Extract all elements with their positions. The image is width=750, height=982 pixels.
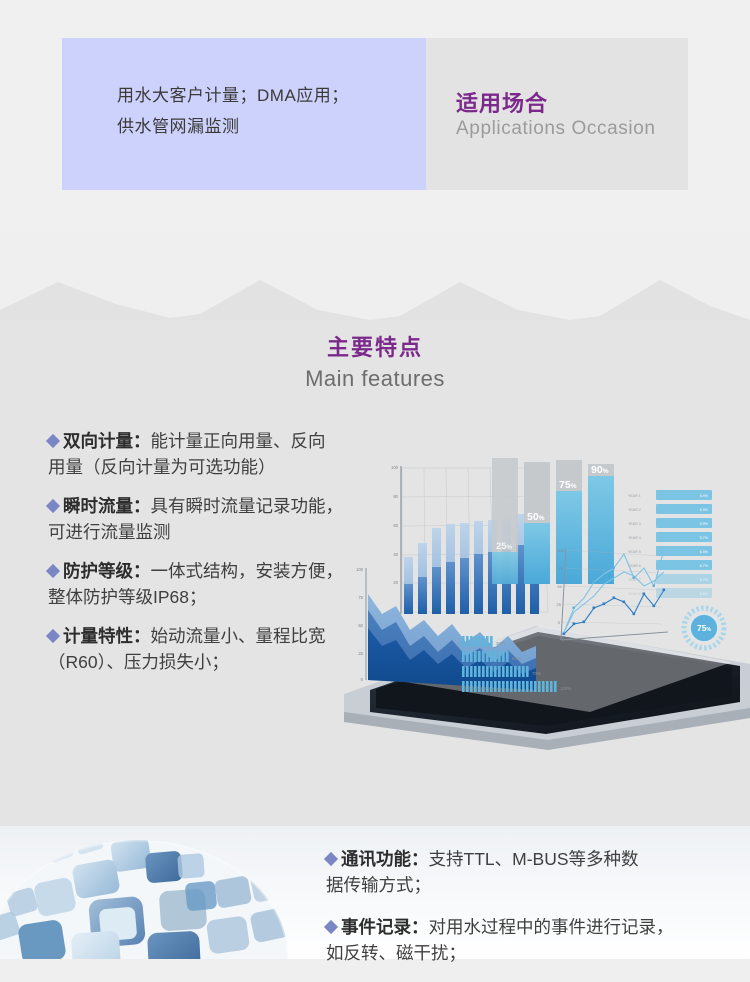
feature-desc-2: （R60）、压力损失小； bbox=[48, 652, 229, 672]
mosaic-sphere-graphic bbox=[0, 826, 300, 959]
svg-text:6.5%: 6.5% bbox=[700, 592, 709, 596]
svg-text:50: 50 bbox=[558, 584, 563, 589]
feature-desc-2: 如反转、磁干扰； bbox=[326, 943, 466, 963]
feature-desc-2: 据传输方式； bbox=[326, 875, 431, 895]
feature-term: 计量特性： bbox=[63, 626, 151, 646]
feature-item-protection-grade: 防护等级：一体式结构，安装方便， 整体防护等级IP68； bbox=[48, 558, 438, 610]
feature-term: 双向计量： bbox=[63, 431, 151, 451]
feature-item-instant-flow: 瞬时流量：具有瞬时流量记录功能， 可进行流量监测 bbox=[48, 493, 438, 545]
applications-body-line-1: 用水大客户计量；DMA应用； bbox=[117, 80, 417, 111]
diamond-bullet-icon bbox=[324, 852, 338, 866]
feature-desc-2: 用量（反向计量为可选功能） bbox=[48, 457, 276, 477]
feature-desc: 具有瞬时流量记录功能， bbox=[151, 496, 344, 516]
features-bottom-list: 通讯功能：支持TTL、M-BUS等多种数 据传输方式； 事件记录：对用水过程中的… bbox=[326, 846, 726, 982]
svg-text:YEAR 1: YEAR 1 bbox=[628, 494, 641, 498]
feature-desc-2: 整体防护等级IP68； bbox=[48, 587, 207, 607]
diamond-bullet-icon bbox=[46, 564, 60, 578]
applications-title-panel: 适用场合 Applications Occasion bbox=[426, 38, 688, 190]
feature-desc: 对用水过程中的事件进行记录， bbox=[429, 917, 674, 937]
svg-text:5.7%: 5.7% bbox=[700, 536, 709, 540]
feature-desc: 一体式结构，安装方便， bbox=[151, 561, 344, 581]
svg-text:5.9%: 5.9% bbox=[700, 494, 709, 498]
svg-text:5.7%: 5.7% bbox=[700, 578, 709, 582]
feature-desc: 能计量正向用量、反向 bbox=[151, 431, 326, 451]
feature-desc-2: 可进行流量监测 bbox=[48, 522, 171, 542]
svg-text:75: 75 bbox=[559, 566, 564, 571]
svg-text:6.9%: 6.9% bbox=[700, 508, 709, 512]
diamond-bullet-icon bbox=[46, 434, 60, 448]
applications-title-en: Applications Occasion bbox=[456, 118, 656, 140]
features-title-cn: 主要特点 bbox=[0, 332, 750, 364]
applications-body: 用水大客户计量；DMA应用； 供水管网漏监测 bbox=[117, 80, 417, 142]
svg-text:YEAR 5: YEAR 5 bbox=[628, 550, 641, 554]
applications-text-panel: 用水大客户计量；DMA应用； 供水管网漏监测 bbox=[62, 38, 426, 190]
svg-text:30%: 30% bbox=[496, 641, 505, 646]
feature-term: 瞬时流量： bbox=[63, 496, 151, 516]
svg-text:YEAR 2: YEAR 2 bbox=[628, 508, 641, 512]
donut-gauge-75: 75% bbox=[684, 608, 724, 648]
svg-text:5.9%: 5.9% bbox=[700, 522, 709, 526]
svg-text:25: 25 bbox=[557, 602, 562, 607]
feature-item-bidirectional: 双向计量：能计量正向用量、反向 用量（反向计量为可选功能） bbox=[48, 428, 438, 480]
percentage-column-chart: 25% 50% 75% 90% bbox=[492, 458, 614, 584]
svg-text:YEAR 4: YEAR 4 bbox=[628, 536, 641, 540]
year-ranking-chart: YEAR 1YEAR 2YEAR 3 YEAR 4YEAR 5YEAR 6 YE… bbox=[628, 490, 712, 598]
feature-term: 通讯功能： bbox=[341, 849, 429, 869]
diamond-bullet-icon bbox=[46, 499, 60, 513]
applications-body-line-2: 供水管网漏监测 bbox=[117, 111, 417, 142]
feature-item-event-log: 事件记录：对用水过程中的事件进行记录， 如反转、磁干扰； bbox=[326, 914, 726, 966]
seg-bar-70 bbox=[462, 666, 529, 677]
feature-desc: 始动流量小、量程比宽 bbox=[151, 626, 326, 646]
svg-text:50%: 50% bbox=[512, 656, 521, 661]
svg-text:70%: 70% bbox=[532, 671, 541, 676]
diamond-bullet-icon bbox=[324, 920, 338, 934]
svg-text:6.7%: 6.7% bbox=[700, 564, 709, 568]
pct-col-50: 50% bbox=[524, 462, 550, 584]
applications-title-cn: 适用场合 bbox=[456, 86, 548, 118]
feature-term: 事件记录： bbox=[341, 917, 429, 937]
svg-text:100%: 100% bbox=[560, 686, 571, 691]
features-title-en: Main features bbox=[0, 364, 750, 394]
svg-text:0: 0 bbox=[558, 620, 561, 625]
svg-text:YEAR 3: YEAR 3 bbox=[628, 522, 641, 526]
feature-item-communication: 通讯功能：支持TTL、M-BUS等多种数 据传输方式； bbox=[326, 846, 726, 898]
svg-text:6.5%: 6.5% bbox=[700, 550, 709, 554]
features-left-list: 双向计量：能计量正向用量、反向 用量（反向计量为可选功能） 瞬时流量：具有瞬时流… bbox=[48, 428, 438, 688]
feature-term: 防护等级： bbox=[63, 561, 151, 581]
pct-col-90: 90% bbox=[588, 464, 614, 584]
svg-text:YEAR 8: YEAR 8 bbox=[628, 592, 641, 596]
svg-text:100: 100 bbox=[557, 548, 564, 553]
feature-desc: 支持TTL、M-BUS等多种数 bbox=[429, 849, 639, 869]
feature-item-metering-characteristics: 计量特性：始动流量小、量程比宽 （R60）、压力损失小； bbox=[48, 623, 438, 675]
pct-col-25: 25% bbox=[492, 458, 518, 584]
features-heading: 主要特点 Main features bbox=[0, 332, 750, 394]
diamond-bullet-icon bbox=[46, 629, 60, 643]
applications-band: 用水大客户计量；DMA应用； 供水管网漏监测 适用场合 Applications… bbox=[0, 0, 750, 232]
